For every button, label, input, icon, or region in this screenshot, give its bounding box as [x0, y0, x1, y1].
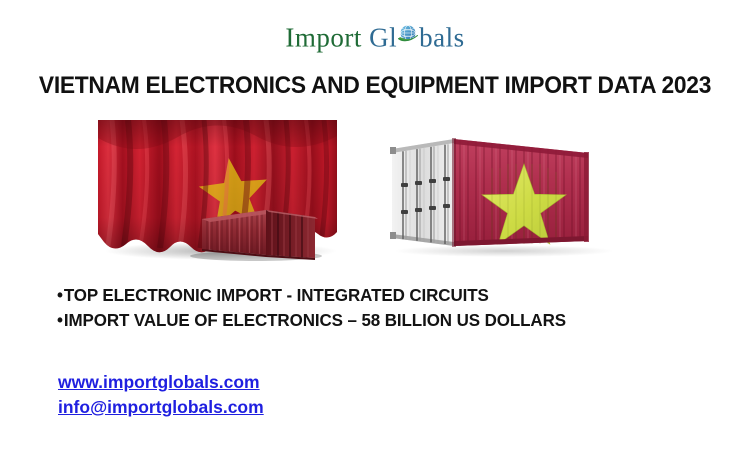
slide-canvas: Import Gl [0, 0, 750, 450]
container-door-end [390, 139, 454, 246]
brand-logo[interactable]: Import Gl [0, 22, 750, 51]
page-title: VIETNAM ELECTRONICS AND EQUIPMENT IMPORT… [26, 72, 724, 100]
list-item: •IMPORT VALUE OF ELECTRONICS – 58 BILLIO… [57, 308, 697, 333]
vietnam-draped-flag-image [96, 114, 339, 262]
bullet-list: •TOP ELECTRONIC IMPORT - INTEGRATED CIRC… [57, 283, 717, 333]
vietnam-flag-container-image [376, 128, 622, 260]
bullet-marker: • [57, 283, 63, 308]
email-link[interactable]: info@importglobals.com [58, 395, 264, 420]
globe-icon [396, 22, 420, 46]
contact-block: www.importglobals.com info@importglobals… [58, 370, 264, 420]
bullet-text: IMPORT VALUE OF ELECTRONICS – 58 BILLION… [64, 310, 566, 330]
list-item: •TOP ELECTRONIC IMPORT - INTEGRATED CIRC… [57, 283, 697, 308]
bullet-marker: • [57, 308, 63, 333]
website-link[interactable]: www.importglobals.com [58, 370, 264, 395]
logo-text-bals: bals [419, 22, 465, 52]
logo-text-import: Import [285, 22, 362, 52]
bullet-text: TOP ELECTRONIC IMPORT - INTEGRATED CIRCU… [64, 285, 489, 305]
container-flag-side [452, 138, 589, 247]
logo-text-gl: Gl [369, 22, 397, 52]
